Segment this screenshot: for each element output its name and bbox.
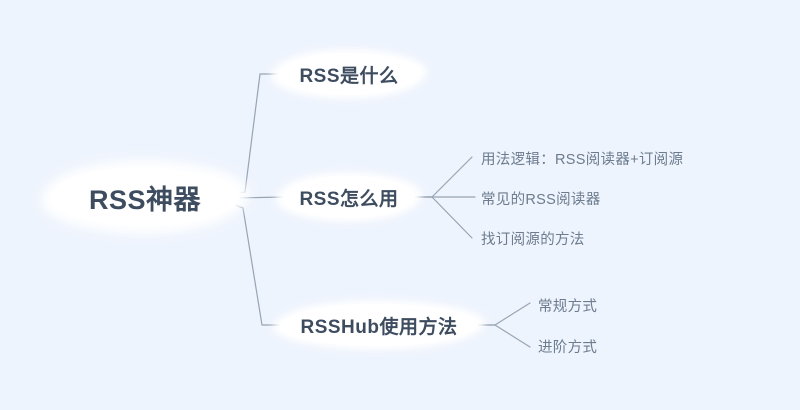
connector-rsshub-to-standard-way — [478, 303, 530, 325]
mindmap-leaf-usage-logic[interactable]: 用法逻辑：RSS阅读器+订阅源 — [481, 148, 683, 169]
mindmap-leaf-standard-way[interactable]: 常规方式 — [538, 295, 597, 316]
connector-how-to-usage-logic — [415, 157, 472, 197]
mindmap-branch-node-how-to-use-rss[interactable]: RSS怎么用 — [283, 176, 415, 218]
mindmap-branch-label: RSS怎么用 — [299, 184, 398, 211]
connector-root-to-what — [232, 74, 278, 194]
mindmap-canvas: RSS神器 RSS是什么 RSS怎么用 RSSHub使用方法 用法逻辑：RSS阅… — [0, 0, 800, 410]
mindmap-root-node[interactable]: RSS神器 — [50, 168, 240, 226]
mindmap-branch-node-what-is-rss[interactable]: RSS是什么 — [278, 53, 420, 95]
mindmap-leaf-advanced-way[interactable]: 进阶方式 — [538, 336, 597, 357]
mindmap-leaf-find-feeds[interactable]: 找订阅源的方法 — [481, 228, 585, 249]
connector-rsshub-to-advanced-way — [478, 325, 530, 347]
mindmap-leaf-common-readers[interactable]: 常见的RSS阅读器 — [481, 188, 601, 209]
connector-how-to-find-feeds — [415, 197, 472, 238]
mindmap-branch-node-rsshub-usage[interactable]: RSSHub使用方法 — [280, 304, 478, 346]
connector-root-to-rsshub — [232, 204, 280, 325]
mindmap-root-label: RSS神器 — [89, 178, 201, 217]
mindmap-branch-label: RSS是什么 — [299, 61, 398, 88]
mindmap-branch-label: RSSHub使用方法 — [300, 312, 457, 339]
